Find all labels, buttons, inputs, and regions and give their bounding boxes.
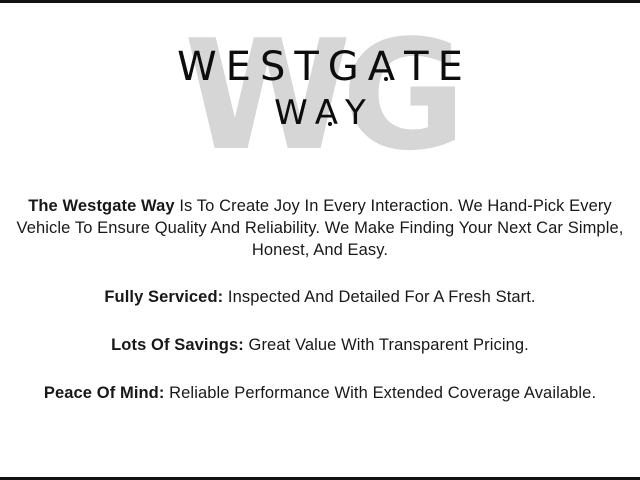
feature-fully-serviced: Fully Serviced: Inspected And Detailed F… (14, 287, 626, 309)
intro-bold-lead: The Westgate Way (28, 197, 174, 215)
feature-label-fully-serviced: Fully Serviced: (104, 288, 223, 306)
logo-a-char: A (368, 44, 404, 90)
logo-y-text: Y (345, 93, 373, 133)
dealer-copy-block: The Westgate Way Is To Create Joy In Eve… (0, 196, 640, 405)
logo-te-text: TE (404, 44, 472, 90)
logo-letter-a-icon: A (368, 46, 404, 88)
logo-w-text: W (274, 93, 315, 133)
feature-text-fully-serviced: Inspected And Detailed For A Fresh Start… (223, 288, 535, 306)
top-letterbox-band (0, 0, 640, 3)
logo-way-a-dot-icon (328, 122, 332, 126)
logo-way-letter-a-icon: A (315, 96, 345, 132)
logo-wordmark: WESTGATE WAY (0, 46, 640, 132)
feature-lots-of-savings: Lots Of Savings: Great Value With Transp… (14, 335, 626, 357)
feature-peace-of-mind: Peace Of Mind: Reliable Performance With… (14, 383, 626, 405)
intro-paragraph: The Westgate Way Is To Create Joy In Eve… (14, 196, 626, 261)
logo-line-way: WAY (0, 96, 640, 132)
feature-text-peace-of-mind: Reliable Performance With Extended Cover… (164, 384, 596, 402)
feature-label-peace-of-mind: Peace Of Mind: (44, 384, 165, 402)
logo-line-westgate: WESTGATE (0, 46, 640, 88)
brand-logo: WG WESTGATE WAY (0, 46, 640, 186)
feature-label-lots-of-savings: Lots Of Savings: (111, 336, 244, 354)
feature-text-lots-of-savings: Great Value With Transparent Pricing. (244, 336, 529, 354)
dealer-info-card: WG WESTGATE WAY The Westgate Way Is To C… (0, 0, 640, 480)
logo-westg-text: WESTG (177, 44, 368, 90)
logo-way-a-char: A (315, 93, 345, 133)
